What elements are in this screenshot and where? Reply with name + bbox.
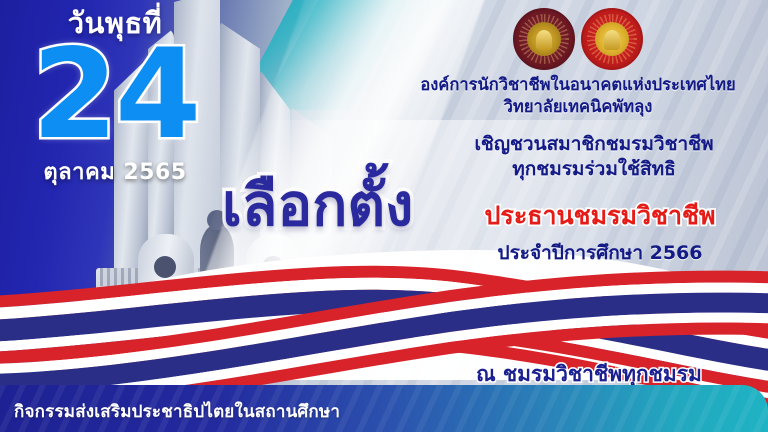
organization-line-1: องค์การนักวิชาชีพในอนาคตแห่งประเทศไทย: [388, 74, 768, 96]
seal-inner-disc: [527, 22, 561, 56]
election-poster: วันพุธที่ 24 ตุลาคม 2565 เลือกตั้ง องค์ก…: [0, 0, 768, 432]
seal-emblem-glyph: [536, 30, 552, 50]
seal-emblem-glyph: [604, 30, 620, 50]
logo-group: [505, 8, 665, 74]
invitation-block: เชิญชวนสมาชิกชมรมวิชาชีพ ทุกชมรมร่วมใช้ส…: [420, 132, 768, 183]
future-farmers-thailand-seal-icon: [581, 8, 643, 70]
date-block: วันพุธที่ 24 ตุลาคม 2565: [0, 8, 230, 189]
organization-line-2: วิทยาลัยเทคนิคพัทลุง: [388, 96, 768, 118]
organization-block: องค์การนักวิชาชีพในอนาคตแห่งประเทศไทย วิ…: [388, 74, 768, 118]
seal-inner-disc: [595, 22, 629, 56]
day-number-text: 24: [0, 38, 230, 152]
headline-election-word: เลือกตั้ง: [222, 176, 413, 234]
footer-bar: กิจกรรมส่งเสริมประชาธิปไตยในสถานศึกษา: [0, 385, 768, 432]
invitation-line-1: เชิญชวนสมาชิกชมรมวิชาชีพ: [420, 132, 768, 157]
position-title-text: ประธานชมรมวิชาชีพ: [432, 202, 768, 230]
phatthalung-technical-college-seal-icon: [513, 8, 575, 70]
invitation-line-2: ทุกชมรมร่วมใช้สิทธิ: [420, 157, 768, 182]
academic-year-text: ประจำปีการศึกษา 2566: [432, 238, 768, 268]
footer-text: กิจกรรมส่งเสริมประชาธิปไตยในสถานศึกษา: [14, 398, 340, 425]
